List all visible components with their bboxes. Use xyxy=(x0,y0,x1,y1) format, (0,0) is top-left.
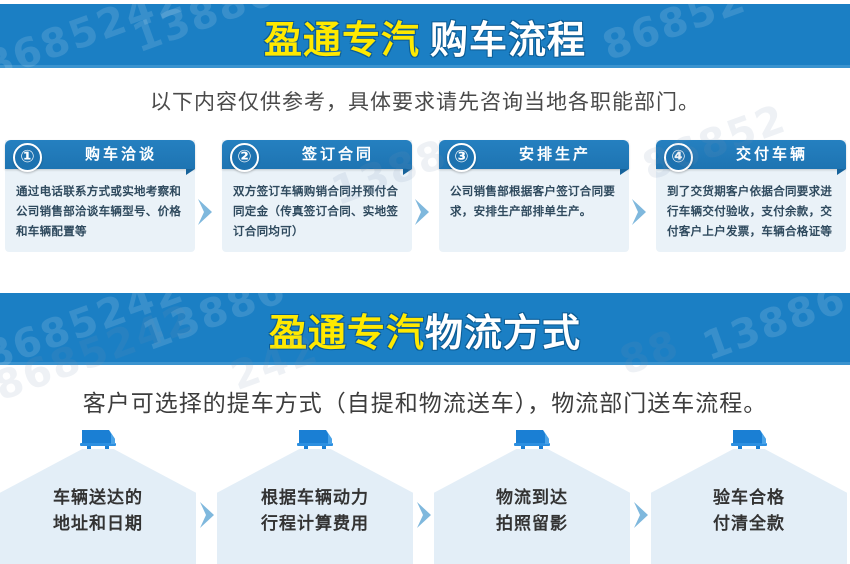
chevron-right-icon xyxy=(196,197,216,227)
logistics-item-4-label: 验车合格 付清全款 xyxy=(651,485,847,538)
logistics-item-1-label: 车辆送达的 地址和日期 xyxy=(0,485,196,538)
step-number-badge: ① xyxy=(13,143,42,172)
truck-icon xyxy=(727,427,771,451)
step-body-text: 双方签订车辆购销合同并预付合同定金（传真签订合同、实地签订合同均可） xyxy=(222,169,412,241)
logistics-item-4: 验车合格 付清全款 xyxy=(651,425,847,564)
logistics-item-3-label: 物流到达 拍照留影 xyxy=(434,485,630,538)
logistics-label-line1: 验车合格 xyxy=(651,485,847,511)
logistics-label-line1: 根据车辆动力 xyxy=(217,485,413,511)
logistics-steps-row: 车辆送达的 地址和日期 根据车辆动力 行程计算费用 xyxy=(0,425,850,564)
logistics-label-line2: 付清全款 xyxy=(651,511,847,537)
banner-brand-purchase: 盈通专汽 xyxy=(264,9,420,64)
step-card-1-header: ① 购车洽谈 xyxy=(5,140,195,169)
logistics-banner: 盈通专汽 物流方式 xyxy=(0,293,850,365)
step-card-2-header: ② 签订合同 xyxy=(222,140,412,169)
step-title: 交付车辆 xyxy=(704,140,840,169)
step-card-4-header: ④ 交付车辆 xyxy=(656,140,846,169)
banner-title-logistics: 物流方式 xyxy=(425,302,581,357)
step-card-1: ① 购车洽谈 通过电话联系方式或实地考察和公司销售部洽谈车辆型号、价格和车辆配置… xyxy=(5,140,195,252)
step-number-badge: ④ xyxy=(664,143,693,172)
step-body-text: 公司销售部根据客户签订合同要求，安排生产部排单生产。 xyxy=(439,169,629,221)
chevron-right-icon xyxy=(413,197,433,227)
step-title: 签订合同 xyxy=(270,140,406,169)
step-title: 安排生产 xyxy=(487,140,623,169)
step-card-4: ④ 交付车辆 到了交货期客户依据合同要求进行车辆交付验收，支付余款，交付客户上户… xyxy=(656,140,846,252)
truck-icon xyxy=(76,427,120,451)
step-card-3: ③ 安排生产 公司销售部根据客户签订合同要求，安排生产部排单生产。 xyxy=(439,140,629,252)
logistics-item-2-label: 根据车辆动力 行程计算费用 xyxy=(217,485,413,538)
step-body-text: 到了交货期客户依据合同要求进行车辆交付验收，支付余款，交付客户上户发票，车辆合格… xyxy=(656,169,846,241)
chevron-right-icon xyxy=(630,197,650,227)
banner-title-purchase: 购车流程 xyxy=(430,9,586,64)
logistics-label-line2: 拍照留影 xyxy=(434,511,630,537)
chevron-right-icon xyxy=(415,500,435,530)
logistics-label-line2: 地址和日期 xyxy=(0,511,196,537)
logistics-label-line2: 行程计算费用 xyxy=(217,511,413,537)
logistics-item-3: 物流到达 拍照留影 xyxy=(434,425,630,564)
logistics-label-line1: 物流到达 xyxy=(434,485,630,511)
step-number-badge: ③ xyxy=(447,143,476,172)
banner-brand-logistics: 盈通专汽 xyxy=(269,302,425,357)
step-card-3-header: ③ 安排生产 xyxy=(439,140,629,169)
purchase-process-banner: 盈通专汽 购车流程 xyxy=(0,4,850,68)
logistics-subtitle: 客户可选择的提车方式（自提和物流送车），物流部门送车流程。 xyxy=(0,384,850,418)
purchase-subtitle: 以下内容仅供参考，具体要求请先咨询当地各职能部门。 xyxy=(0,86,850,116)
step-number-badge: ② xyxy=(230,143,259,172)
step-title: 购车洽谈 xyxy=(53,140,189,169)
logistics-label-line1: 车辆送达的 xyxy=(0,485,196,511)
truck-icon xyxy=(293,427,337,451)
step-body-text: 通过电话联系方式或实地考察和公司销售部洽谈车辆型号、价格和车辆配置等 xyxy=(5,169,195,241)
logistics-item-2: 根据车辆动力 行程计算费用 xyxy=(217,425,413,564)
truck-icon xyxy=(510,427,554,451)
logistics-item-1: 车辆送达的 地址和日期 xyxy=(0,425,196,564)
step-card-2: ② 签订合同 双方签订车辆购销合同并预付合同定金（传真签订合同、实地签订合同均可… xyxy=(222,140,412,252)
chevron-right-icon xyxy=(632,500,652,530)
chevron-right-icon xyxy=(198,500,218,530)
